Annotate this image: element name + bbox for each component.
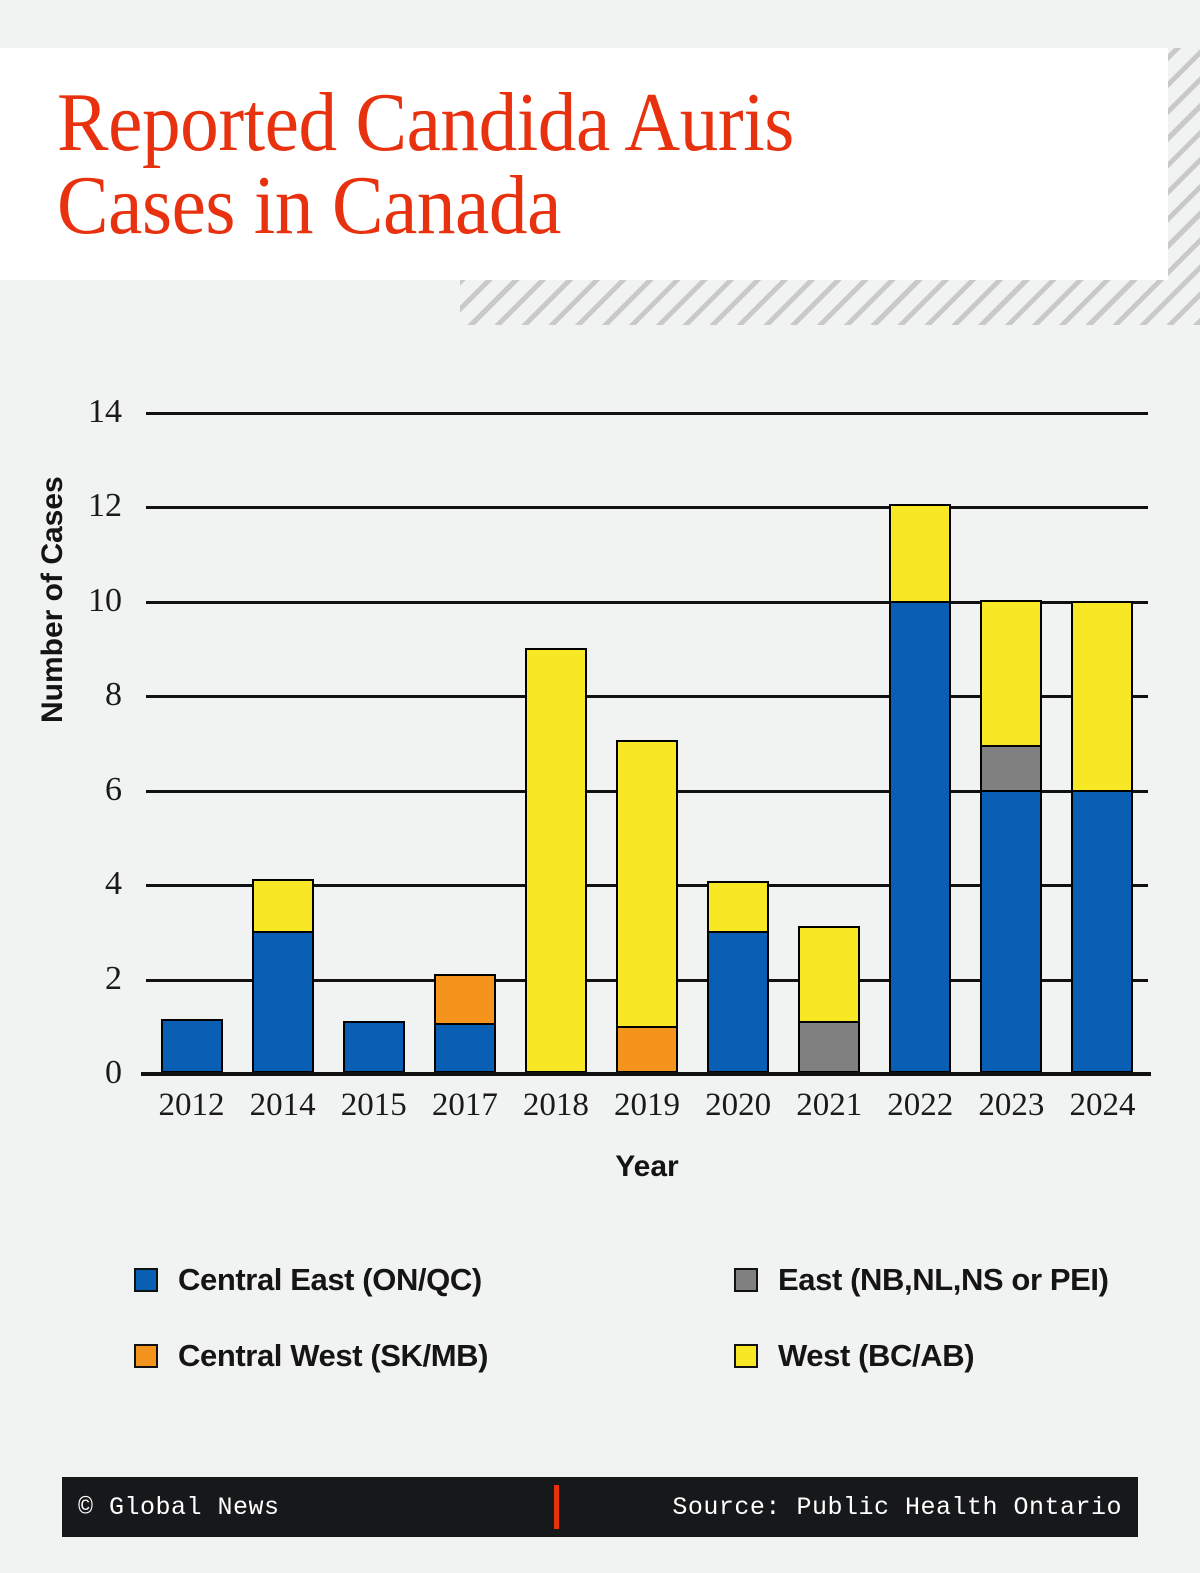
bar-stack[interactable] bbox=[343, 1023, 405, 1073]
y-axis-tick-label: 6 bbox=[105, 771, 136, 809]
bar-segment[interactable] bbox=[252, 879, 314, 933]
bar-group-2012[interactable] bbox=[146, 412, 237, 1073]
y-axis-tick-label: 8 bbox=[105, 676, 136, 714]
legend-item[interactable]: Central West (SK/MB) bbox=[134, 1338, 734, 1374]
legend-label: Central East (ON/QC) bbox=[178, 1262, 482, 1298]
bar-group-2015[interactable] bbox=[328, 412, 419, 1073]
y-axis-tick-label: 12 bbox=[88, 487, 136, 525]
bar-stack[interactable] bbox=[1071, 603, 1133, 1073]
x-axis-tick-label: 2024 bbox=[1057, 1087, 1148, 1124]
footer-bar: © Global News Source: Public Health Onta… bbox=[62, 1477, 1138, 1537]
bar-group-2019[interactable] bbox=[601, 412, 692, 1073]
bar-segment[interactable] bbox=[1071, 601, 1133, 792]
bar-group-2023[interactable] bbox=[966, 412, 1057, 1073]
x-axis-line bbox=[141, 1072, 1151, 1076]
bar-segment[interactable] bbox=[343, 1021, 405, 1073]
x-axis-tick-label: 2023 bbox=[966, 1087, 1057, 1124]
chart: Number of Cases 02468101214 201220142015… bbox=[0, 325, 1200, 1225]
bar-segment[interactable] bbox=[707, 881, 769, 933]
footer-source: Source: Public Health Ontario bbox=[672, 1493, 1138, 1522]
y-axis-tick-label: 14 bbox=[88, 393, 136, 431]
bar-segment[interactable] bbox=[161, 1019, 223, 1073]
bar-segment[interactable] bbox=[616, 1026, 678, 1073]
bar-group-2020[interactable] bbox=[693, 412, 784, 1073]
bar-segment[interactable] bbox=[889, 504, 951, 603]
bar-group-2024[interactable] bbox=[1057, 412, 1148, 1073]
bar-segment[interactable] bbox=[434, 1023, 496, 1073]
bar-group-2022[interactable] bbox=[875, 412, 966, 1073]
bar-segment[interactable] bbox=[980, 600, 1042, 746]
x-axis-ticks: 2012201420152017201820192020202120222023… bbox=[146, 1087, 1148, 1124]
bar-segment[interactable] bbox=[616, 740, 678, 1028]
bar-segment[interactable] bbox=[980, 790, 1042, 1073]
bar-segment[interactable] bbox=[798, 1021, 860, 1073]
bar-group-2014[interactable] bbox=[237, 412, 328, 1073]
x-axis-tick-label: 2019 bbox=[601, 1087, 692, 1124]
x-axis-tick-label: 2020 bbox=[693, 1087, 784, 1124]
bar-stack[interactable] bbox=[889, 506, 951, 1073]
x-axis-tick-label: 2015 bbox=[328, 1087, 419, 1124]
y-axis-tick-label: 10 bbox=[88, 582, 136, 620]
x-axis-tick-label: 2012 bbox=[146, 1087, 237, 1124]
bar-stack[interactable] bbox=[616, 742, 678, 1073]
legend-swatch-icon bbox=[734, 1268, 758, 1292]
legend-label: East (NB,NL,NS or PEI) bbox=[778, 1262, 1109, 1298]
bar-segment[interactable] bbox=[252, 931, 314, 1073]
legend-swatch-icon bbox=[134, 1344, 158, 1368]
footer-divider bbox=[554, 1485, 559, 1529]
header: Reported Candida Auris Cases in Canada bbox=[0, 0, 1200, 325]
bar-group-2018[interactable] bbox=[510, 412, 601, 1073]
legend-item[interactable]: Central East (ON/QC) bbox=[134, 1262, 734, 1298]
bar-segment[interactable] bbox=[889, 601, 951, 1073]
legend-label: West (BC/AB) bbox=[778, 1338, 974, 1374]
bar-stack[interactable] bbox=[434, 976, 496, 1073]
bar-stack[interactable] bbox=[707, 883, 769, 1073]
plot-area: 02468101214 bbox=[146, 412, 1148, 1073]
legend-swatch-icon bbox=[734, 1344, 758, 1368]
bar-stack[interactable] bbox=[980, 602, 1042, 1073]
title-card: Reported Candida Auris Cases in Canada bbox=[0, 48, 1168, 280]
y-axis-tick-label: 4 bbox=[105, 865, 136, 903]
bar-group-2021[interactable] bbox=[784, 412, 875, 1073]
legend-item[interactable]: East (NB,NL,NS or PEI) bbox=[734, 1262, 1134, 1298]
bar-series-container bbox=[146, 412, 1148, 1073]
y-axis-tick-label: 0 bbox=[105, 1054, 136, 1092]
y-axis-tick-label: 2 bbox=[105, 960, 136, 998]
x-axis-label: Year bbox=[146, 1150, 1148, 1184]
bar-segment[interactable] bbox=[525, 648, 587, 1073]
bar-segment[interactable] bbox=[798, 926, 860, 1023]
chart-legend: Central East (ON/QC)East (NB,NL,NS or PE… bbox=[134, 1262, 1134, 1374]
bar-stack[interactable] bbox=[798, 928, 860, 1073]
bar-segment[interactable] bbox=[1071, 790, 1133, 1073]
legend-label: Central West (SK/MB) bbox=[178, 1338, 488, 1374]
x-axis-tick-label: 2021 bbox=[784, 1087, 875, 1124]
bar-group-2017[interactable] bbox=[419, 412, 510, 1073]
bar-segment[interactable] bbox=[434, 974, 496, 1026]
bar-segment[interactable] bbox=[980, 745, 1042, 792]
footer-copyright: © Global News bbox=[62, 1493, 280, 1522]
bar-stack[interactable] bbox=[161, 1021, 223, 1073]
x-axis-tick-label: 2014 bbox=[237, 1087, 328, 1124]
bar-stack[interactable] bbox=[252, 881, 314, 1073]
x-axis-tick-label: 2017 bbox=[419, 1087, 510, 1124]
bar-stack[interactable] bbox=[525, 650, 587, 1073]
y-axis-label: Number of Cases bbox=[36, 476, 70, 723]
x-axis-tick-label: 2018 bbox=[510, 1087, 601, 1124]
bar-segment[interactable] bbox=[707, 931, 769, 1073]
x-axis-tick-label: 2022 bbox=[875, 1087, 966, 1124]
page-title: Reported Candida Auris Cases in Canada bbox=[0, 81, 794, 247]
legend-swatch-icon bbox=[134, 1268, 158, 1292]
legend-item[interactable]: West (BC/AB) bbox=[734, 1338, 1134, 1374]
